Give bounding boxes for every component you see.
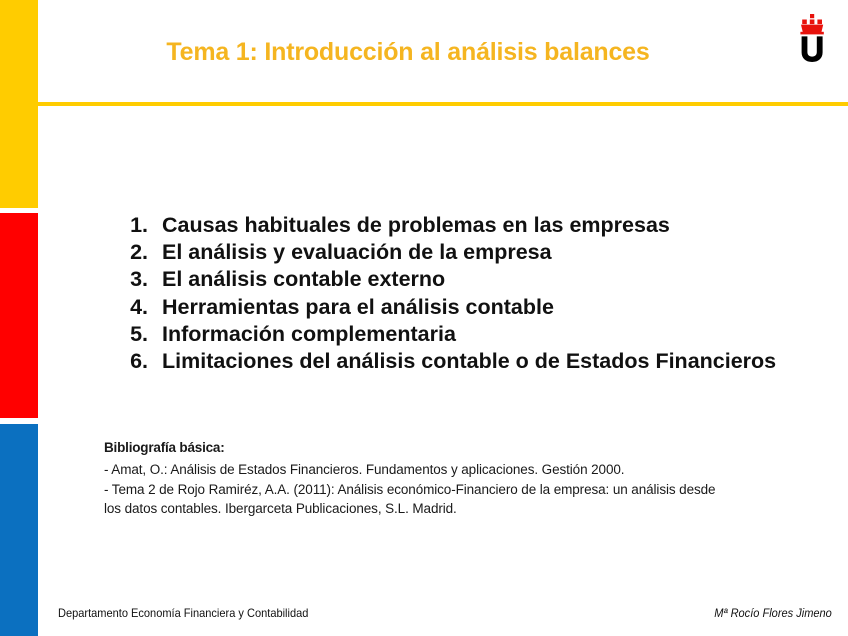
bibliography-entry: - Amat, O.: Análisis de Estados Financie… <box>104 460 728 480</box>
slide-body: Causas habituales de problemas en las em… <box>120 212 824 375</box>
header-divider <box>38 102 848 106</box>
list-item: Limitaciones del análisis contable o de … <box>154 348 824 375</box>
list-item: El análisis y evaluación de la empresa <box>154 239 824 266</box>
footer-department: Departamento Economía Financiera y Conta… <box>58 606 308 620</box>
list-item: Herramientas para el análisis contable <box>154 294 824 321</box>
bibliography-heading: Bibliografía básica: <box>104 440 728 455</box>
sidebar-block-blue <box>0 424 38 636</box>
list-item: Causas habituales de problemas en las em… <box>154 212 824 239</box>
sidebar-block-red <box>0 213 38 418</box>
slide-header: Tema 1: Introducción al análisis balance… <box>38 0 848 108</box>
bibliography-entry: - Tema 2 de Rojo Ramiréz, A.A. (2011): A… <box>104 480 728 519</box>
list-item: El análisis contable externo <box>154 266 824 293</box>
topic-list: Causas habituales de problemas en las em… <box>120 212 824 375</box>
list-item: Información complementaria <box>154 321 824 348</box>
footer-author: Mª Rocío Flores Jimeno <box>714 606 832 620</box>
page-title: Tema 1: Introducción al análisis balance… <box>38 38 848 67</box>
bibliography-block: Bibliografía básica: - Amat, O.: Análisi… <box>104 440 728 519</box>
slide-footer: Departamento Economía Financiera y Conta… <box>58 606 832 624</box>
crown-u-icon <box>790 10 834 66</box>
urjc-crowned-u-logo <box>790 10 834 66</box>
sidebar-block-yellow <box>0 0 38 208</box>
